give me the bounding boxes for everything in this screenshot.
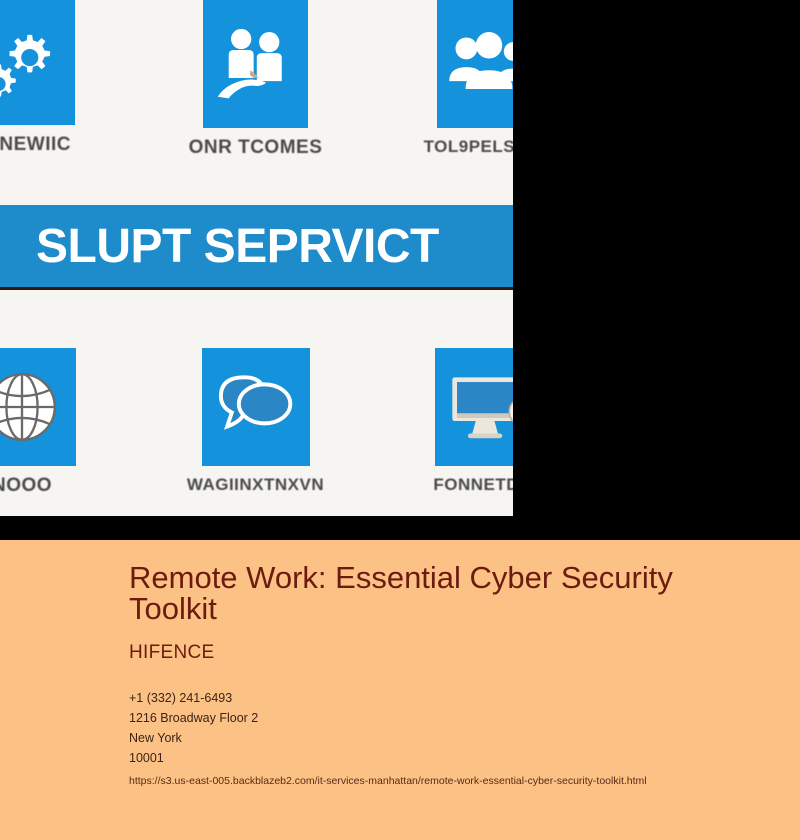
contact-block: +1 (332) 241-6493 1216 Broadway Floor 2 … (129, 688, 760, 768)
user-group-tile-label: TOL9PELSHNO (424, 137, 513, 157)
company-name: HIFENCE (129, 642, 760, 664)
speech-bubbles-tile (202, 348, 310, 466)
icon-cell-globe: NOOO (0, 348, 102, 497)
contact-street: 1216 Broadway Floor 2 (129, 708, 760, 728)
icon-cell-gears: SENEWIIC (0, 0, 102, 159)
handshake-tile (203, 0, 308, 128)
user-group-tile (437, 0, 514, 128)
hero-image: SENEWIIC ONR TCOMES (0, 0, 513, 516)
document-url[interactable]: https://s3.us-east-005.backblazeb2.com/i… (129, 775, 760, 787)
contact-city: New York (129, 728, 760, 748)
gears-tile-label: SENEWIIC (0, 134, 71, 156)
icon-cell-monitor: FONNETDOE (409, 348, 513, 497)
contact-postal-code: 10001 (129, 748, 760, 768)
service-banner-text: SLUPT SEPRVICT (36, 219, 439, 274)
desktop-monitor-tile-label: FONNETDOE (433, 475, 513, 495)
user-group-icon (443, 25, 513, 103)
desktop-monitor-tile (435, 348, 513, 466)
page-title: Remote Work: Essential Cyber Security To… (129, 562, 729, 624)
icon-cell-handshake: ONR TCOMES (176, 0, 336, 159)
desktop-monitor-icon (443, 368, 513, 446)
gears-icon (0, 24, 61, 102)
gears-tile (0, 0, 75, 125)
globe-tile-label: NOOO (0, 475, 52, 497)
service-banner: SLUPT SEPRVICT (0, 205, 513, 287)
icon-cell-user-group: TOL9PELSHNO (409, 0, 513, 159)
document-info-panel: Remote Work: Essential Cyber Security To… (0, 540, 800, 840)
speech-bubbles-icon (210, 368, 302, 446)
handshake-tile-label: ONR TCOMES (189, 137, 323, 159)
icon-row-bottom: NOOO WAGIINXTNXVN (0, 348, 513, 497)
handshake-people-icon (210, 25, 302, 103)
globe-icon (0, 368, 61, 446)
icon-row-top: SENEWIIC ONR TCOMES (0, 0, 513, 159)
contact-phone: +1 (332) 241-6493 (129, 688, 760, 708)
icon-cell-speech: WAGIINXTNXVN (176, 348, 336, 497)
hero-letterbox-band: SENEWIIC ONR TCOMES (0, 0, 800, 540)
speech-bubbles-tile-label: WAGIINXTNXVN (187, 475, 324, 495)
globe-tile (0, 348, 76, 466)
